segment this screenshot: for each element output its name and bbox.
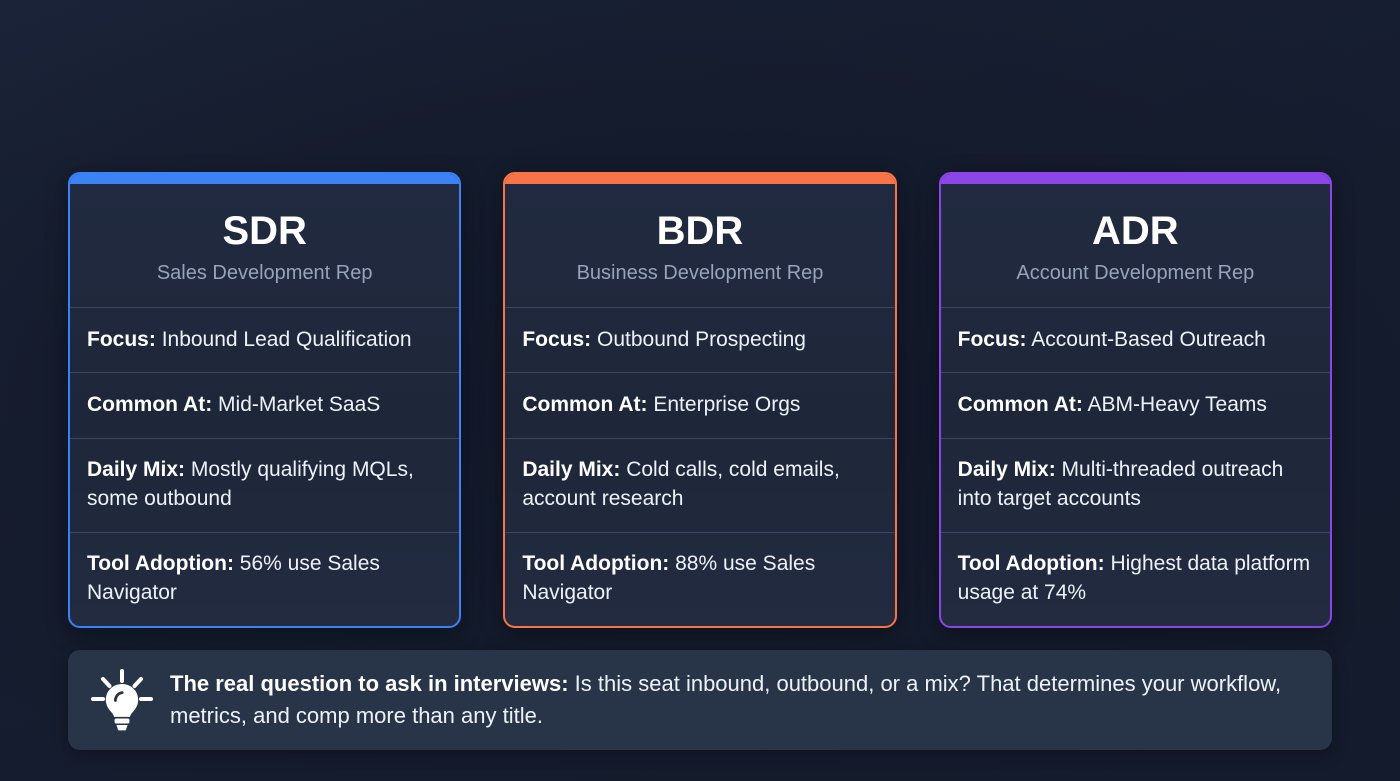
row-label: Daily Mix: (958, 458, 1056, 481)
accent-bar-sdr (70, 174, 459, 184)
table-row: Tool Adoption: 88% use Sales Navigator (505, 532, 894, 626)
table-row: Tool Adoption: 56% use Sales Navigator (70, 532, 459, 626)
accent-bar-adr (941, 174, 1330, 184)
row-label: Daily Mix: (87, 458, 185, 481)
row-value: Mid-Market SaaS (218, 393, 380, 416)
card-adr: ADR Account Development Rep Focus: Accou… (939, 172, 1332, 628)
row-value: ABM-Heavy Teams (1088, 393, 1267, 416)
table-row: Common At: Enterprise Orgs (505, 372, 894, 437)
card-rows-bdr: Focus: Outbound Prospecting Common At: E… (505, 307, 894, 626)
table-row: Daily Mix: Multi-threaded outreach into … (941, 438, 1330, 532)
card-header-sdr: SDR Sales Development Rep (70, 184, 459, 307)
row-value: Inbound Lead Qualification (162, 328, 412, 351)
callout-lead: The real question to ask in interviews: (170, 671, 569, 696)
header: SDR vs BDR vs ADR - What Actually Matter… (0, 0, 1400, 131)
row-label: Focus: (87, 328, 156, 351)
table-row: Tool Adoption: Highest data platform usa… (941, 532, 1330, 626)
table-row: Daily Mix: Cold calls, cold emails, acco… (505, 438, 894, 532)
row-label: Focus: (958, 328, 1027, 351)
table-row: Common At: Mid-Market SaaS (70, 372, 459, 437)
card-rows-sdr: Focus: Inbound Lead Qualification Common… (70, 307, 459, 626)
callout-text: The real question to ask in interviews: … (170, 668, 1306, 732)
accent-bar-bdr (505, 174, 894, 184)
card-title-sdr: SDR (84, 210, 445, 252)
card-title-adr: ADR (955, 210, 1316, 252)
row-label: Tool Adoption: (87, 552, 234, 575)
row-value: Outbound Prospecting (597, 328, 806, 351)
card-header-adr: ADR Account Development Rep (941, 184, 1330, 307)
page-title: SDR vs BDR vs ADR - What Actually Matter… (0, 30, 1400, 86)
table-row: Focus: Outbound Prospecting (505, 307, 894, 372)
card-subtitle-bdr: Business Development Rep (519, 262, 880, 285)
card-rows-adr: Focus: Account-Based Outreach Common At:… (941, 307, 1330, 626)
row-label: Common At: (958, 393, 1083, 416)
table-row: Focus: Account-Based Outreach (941, 307, 1330, 372)
page-subtitle: The title matters less than the prospect… (0, 99, 1400, 131)
row-label: Tool Adoption: (958, 552, 1105, 575)
infographic-page: SDR vs BDR vs ADR - What Actually Matter… (0, 0, 1400, 781)
card-title-bdr: BDR (519, 210, 880, 252)
table-row: Daily Mix: Mostly qualifying MQLs, some … (70, 438, 459, 532)
comparison-cards: SDR Sales Development Rep Focus: Inbound… (68, 172, 1332, 628)
table-row: Common At: ABM-Heavy Teams (941, 372, 1330, 437)
row-label: Daily Mix: (522, 458, 620, 481)
row-label: Common At: (87, 393, 212, 416)
callout-banner: The real question to ask in interviews: … (68, 650, 1332, 750)
row-label: Tool Adoption: (522, 552, 669, 575)
row-label: Focus: (522, 328, 591, 351)
card-subtitle-adr: Account Development Rep (955, 262, 1316, 285)
row-value: Enterprise Orgs (653, 393, 800, 416)
card-bdr: BDR Business Development Rep Focus: Outb… (503, 172, 896, 628)
table-row: Focus: Inbound Lead Qualification (70, 307, 459, 372)
card-subtitle-sdr: Sales Development Rep (84, 262, 445, 285)
lightbulb-icon (90, 667, 154, 733)
row-label: Common At: (522, 393, 647, 416)
card-header-bdr: BDR Business Development Rep (505, 184, 894, 307)
row-value: Account-Based Outreach (1031, 328, 1266, 351)
card-sdr: SDR Sales Development Rep Focus: Inbound… (68, 172, 461, 628)
